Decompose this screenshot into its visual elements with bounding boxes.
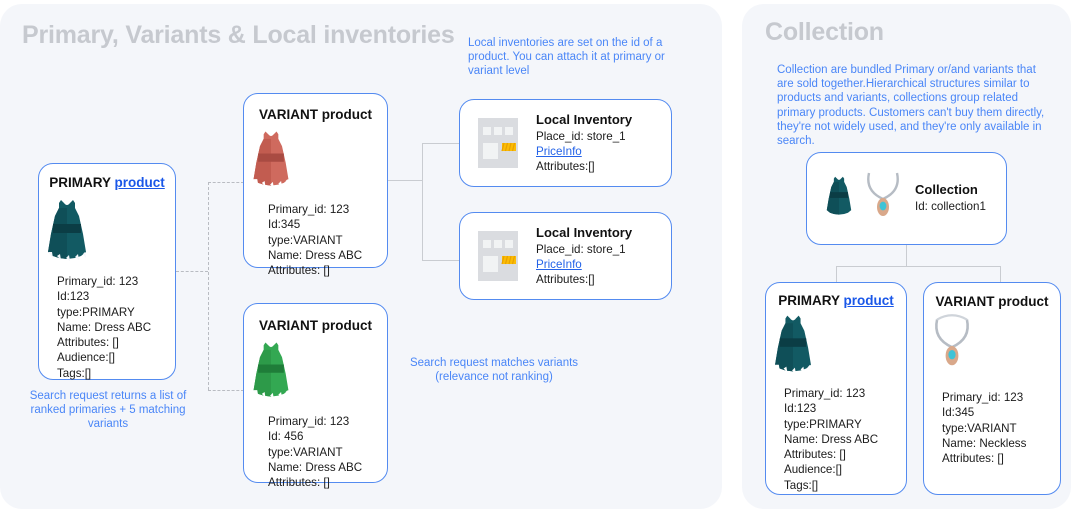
panel-left-title: Primary, Variants & Local inventories	[22, 21, 455, 50]
note-search-variant: Search request matches variants (relevan…	[404, 356, 584, 384]
field-type: type:VARIANT	[268, 445, 387, 460]
card-fields: Place_id: store_1 PriceInfo Attributes:[…	[536, 242, 632, 288]
green-dress-icon	[244, 337, 387, 408]
price-info-link[interactable]: PriceInfo	[536, 144, 632, 159]
connector-collection-stub	[906, 245, 907, 266]
connector-primary-stub	[176, 271, 208, 272]
card-local-inventory-1[interactable]: Local Inventory Place_id: store_1 PriceI…	[459, 99, 672, 187]
card-fields: Place_id: store_1 PriceInfo Attributes:[…	[536, 129, 632, 175]
field-id: Id: collection1	[915, 199, 986, 214]
card-title-bold: PRIMARY	[778, 293, 840, 308]
field-type: type:PRIMARY	[784, 417, 906, 432]
connector-primary-trunk	[208, 182, 209, 390]
card-variant-product-necklace[interactable]: VARIANT product Primary_id: 123 Id:345 t…	[923, 282, 1061, 495]
field-attributes: Attributes: []	[268, 263, 387, 278]
note-collection: Collection are bundled Primary or/and va…	[777, 63, 1053, 148]
field-type: type:PRIMARY	[57, 305, 175, 320]
card-variant-product-green[interactable]: VARIANT product Primary_id: 123 Id: 456 …	[243, 303, 388, 483]
field-id: Id: 456	[268, 429, 387, 444]
field-type: type:VARIANT	[942, 421, 1060, 436]
teal-dress-icon	[39, 194, 175, 271]
field-id: Id:345	[942, 405, 1060, 420]
card-title: PRIMARY product	[766, 293, 906, 308]
field-name: Name: Dress ABC	[784, 432, 906, 447]
card-title: VARIANT product	[244, 318, 387, 333]
field-primary-id: Primary_id: 123	[784, 386, 906, 401]
connector-collection-bus	[836, 266, 1000, 267]
store-building-icon	[468, 223, 528, 290]
field-attributes: Attributes: []	[268, 475, 387, 490]
teal-dress-icon	[821, 165, 857, 232]
connector-to-inventory-1	[422, 143, 460, 144]
product-link[interactable]: product	[844, 293, 894, 308]
field-attributes: Attributes: []	[942, 451, 1060, 466]
field-audience: Audience:[]	[784, 462, 906, 477]
connector-inventory-trunk	[422, 143, 423, 260]
field-type: type:VARIANT	[268, 233, 387, 248]
card-fields: Id: collection1	[915, 199, 986, 214]
card-fields: Primary_id: 123 Id: 456 type:VARIANT Nam…	[268, 414, 387, 490]
field-id: Id:123	[784, 401, 906, 416]
field-name: Name: Dress ABC	[268, 248, 387, 263]
teal-dress-icon	[766, 310, 906, 383]
card-title: Collection	[915, 182, 986, 197]
connector-to-variant-green	[208, 390, 244, 391]
red-dress-icon	[244, 126, 387, 197]
diagram-canvas: Primary, Variants & Local inventories Co…	[0, 0, 1071, 513]
field-tags: Tags:[]	[784, 478, 906, 493]
connector-to-inventory-2	[422, 260, 460, 261]
product-link[interactable]: product	[115, 175, 165, 190]
field-place-id: Place_id: store_1	[536, 242, 632, 257]
card-local-inventory-2[interactable]: Local Inventory Place_id: store_1 PriceI…	[459, 212, 672, 300]
card-title: Local Inventory	[536, 225, 632, 240]
field-id: Id:123	[57, 289, 175, 304]
panel-right-title: Collection	[765, 18, 884, 47]
price-info-link[interactable]: PriceInfo	[536, 257, 632, 272]
necklace-icon	[924, 311, 1060, 382]
field-primary-id: Primary_id: 123	[268, 414, 387, 429]
field-attributes: Attributes:[]	[536, 159, 632, 174]
field-attributes: Attributes: []	[57, 335, 175, 350]
field-attributes: Attributes:[]	[536, 272, 632, 287]
card-fields: Primary_id: 123 Id:345 type:VARIANT Name…	[268, 202, 387, 278]
field-name: Name: Neckless	[942, 436, 1060, 451]
card-collection[interactable]: Collection Id: collection1	[806, 152, 1007, 245]
field-attributes: Attributes: []	[784, 447, 906, 462]
field-audience: Audience:[]	[57, 350, 175, 365]
field-primary-id: Primary_id: 123	[268, 202, 387, 217]
card-title: VARIANT product	[244, 107, 387, 122]
card-primary-product-right[interactable]: PRIMARY product Primary_id: 123 Id:123 t…	[765, 282, 907, 495]
connector-collection-to-primary	[836, 266, 837, 283]
card-primary-product-left[interactable]: PRIMARY product Primary_id: 123 Id:123 t…	[38, 163, 176, 380]
field-id: Id:345	[268, 217, 387, 232]
field-place-id: Place_id: store_1	[536, 129, 632, 144]
connector-variant-stub	[388, 180, 422, 181]
field-name: Name: Dress ABC	[268, 460, 387, 475]
note-search-primary: Search request returns a list of ranked …	[22, 389, 194, 432]
necklace-icon	[861, 165, 905, 232]
connector-collection-to-variant	[1000, 266, 1001, 283]
field-primary-id: Primary_id: 123	[57, 274, 175, 289]
card-fields: Primary_id: 123 Id:123 type:PRIMARY Name…	[57, 274, 175, 381]
field-primary-id: Primary_id: 123	[942, 390, 1060, 405]
card-title: VARIANT product	[924, 294, 1060, 309]
field-tags: Tags:[]	[57, 366, 175, 381]
card-title: PRIMARY product	[39, 175, 175, 190]
card-fields: Primary_id: 123 Id:123 type:PRIMARY Name…	[784, 386, 906, 493]
field-name: Name: Dress ABC	[57, 320, 175, 335]
card-fields: Primary_id: 123 Id:345 type:VARIANT Name…	[942, 390, 1060, 466]
connector-to-variant-red	[208, 182, 244, 183]
card-title: Local Inventory	[536, 112, 632, 127]
store-building-icon	[468, 110, 528, 177]
card-title-bold: PRIMARY	[49, 175, 111, 190]
card-variant-product-red[interactable]: VARIANT product Primary_id: 123 Id:345 t…	[243, 93, 388, 268]
note-local-inventory: Local inventories are set on the id of a…	[468, 36, 678, 79]
